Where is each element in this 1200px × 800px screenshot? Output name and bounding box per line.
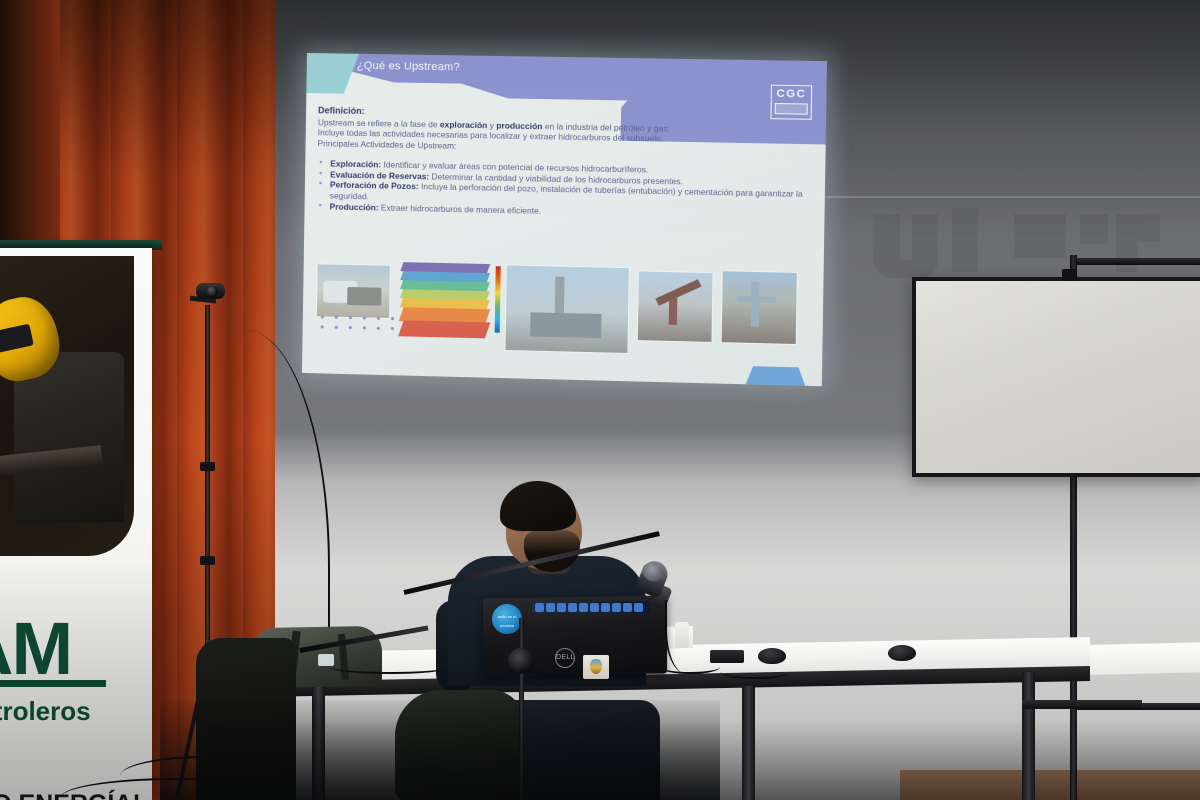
projected-slide: ¿Qué es Upstream? CGC Definición: Upstre — [302, 53, 827, 386]
webcam-lens-icon — [207, 286, 218, 297]
slide-corner-tab — [746, 366, 806, 386]
table-leg — [1022, 672, 1035, 800]
slide-title: ¿Qué es Upstream? — [357, 60, 460, 74]
table-rail — [1022, 700, 1142, 709]
wall-panel-seam — [820, 196, 1200, 198]
bullet-term: Producción: — [330, 201, 379, 212]
laptop-sticker-bar — [532, 601, 650, 613]
laptop-sticker-small — [583, 655, 609, 679]
table-leg — [742, 686, 755, 800]
bold-produccion: producción — [496, 120, 542, 131]
computer-mouse-secondary[interactable] — [888, 645, 916, 661]
banner-rule — [0, 680, 106, 687]
slide-dot-grid-top — [678, 81, 738, 100]
tripod-collar — [200, 556, 215, 565]
thumbnail-wellhead — [722, 271, 797, 344]
rollup-banner: AM Petroleros NDO ENERGÍA! — [0, 248, 152, 800]
computer-mouse[interactable] — [758, 648, 786, 664]
slide-body: Definición: Upstream se refiere a la fas… — [317, 105, 816, 221]
slide-dot-grid-bottom — [321, 315, 401, 333]
laptop-sticker-round: radio en el proceso — [492, 604, 522, 634]
presentation-room-scene: AM Petroleros NDO ENERGÍA! ¿Qué es Upstr… — [0, 0, 1200, 800]
banner-welder-photo — [0, 256, 134, 556]
whiteboard — [912, 277, 1200, 477]
tripod-collar — [200, 462, 215, 471]
desk-cable — [720, 665, 790, 679]
cgc-logo-text: CGC — [776, 86, 806, 103]
bold-exploracion: exploración — [440, 119, 488, 130]
slide-teal-accent — [306, 53, 359, 94]
banner-heading: AM — [0, 606, 71, 691]
whiteboard-stand-top-rail — [1075, 258, 1200, 265]
bullet-text: Extraer hidrocarburos de manera eficient… — [379, 202, 542, 215]
thumbnail-geological-model — [401, 260, 489, 340]
floor-strip — [900, 770, 1200, 800]
mic-boom-clamp[interactable] — [508, 648, 534, 674]
desk-cable — [330, 660, 450, 674]
laptop-brand-logo: DELL — [555, 648, 575, 668]
slide-bullet-list: Exploración: Identificar y evaluar áreas… — [317, 158, 815, 221]
thumbnail-pumpjack — [638, 271, 713, 341]
whiteboard-clip — [1062, 269, 1076, 281]
thumbnail-drilling-rig — [506, 265, 629, 353]
bullet-term: Exploración: — [330, 159, 381, 170]
slide-thumbnail-row — [316, 258, 815, 366]
thumbnail-seismic-truck — [317, 264, 390, 318]
banner-subtitle: Petroleros — [0, 696, 91, 727]
cable-adapter — [710, 650, 744, 663]
